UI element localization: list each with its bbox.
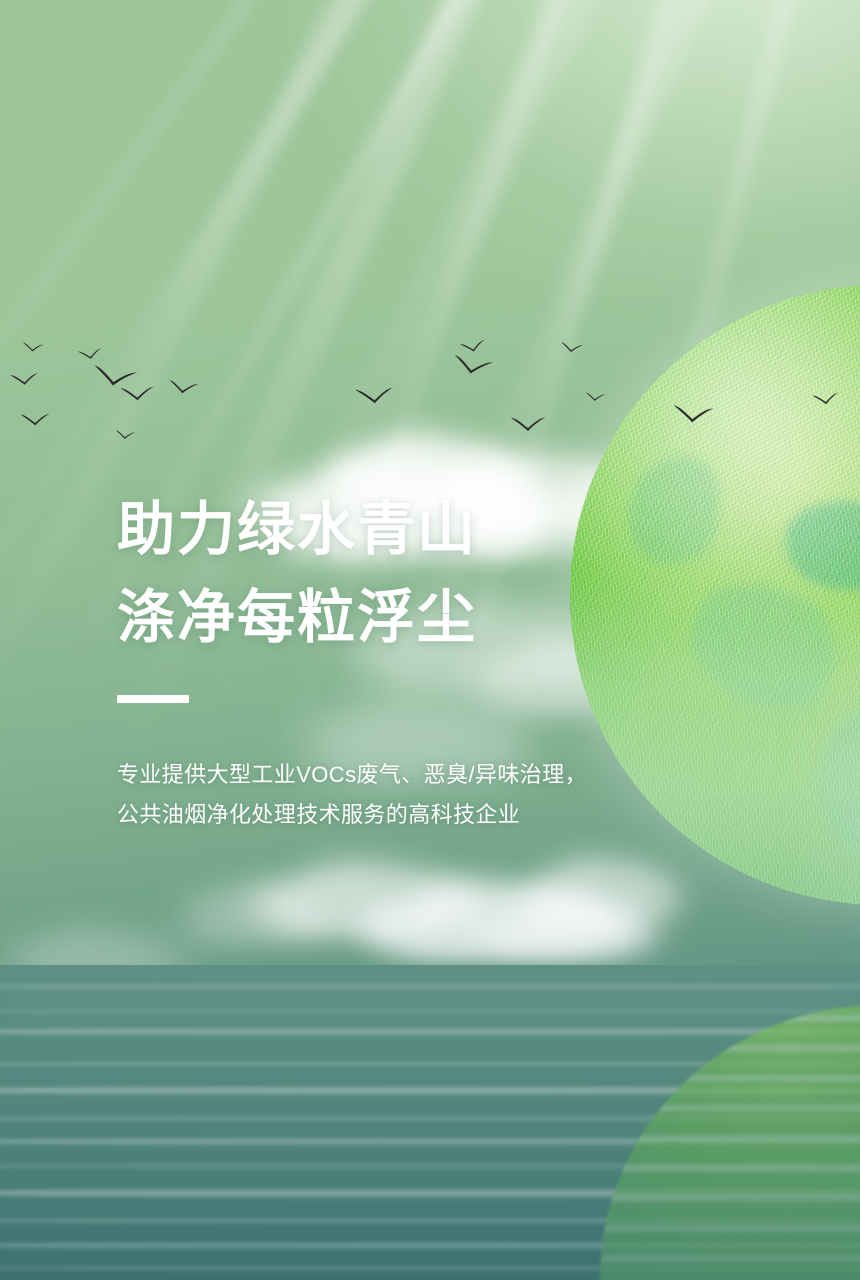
- bird-icon: [20, 411, 52, 428]
- water-ripple-line: [0, 983, 860, 990]
- subtitle-line-2: 公共油烟净化处理技术服务的高科技企业: [117, 795, 677, 835]
- bird-icon: [559, 341, 584, 355]
- bird-icon: [9, 370, 40, 388]
- bird-icon: [510, 414, 548, 434]
- cloud-puff: [493, 924, 599, 952]
- reflection-water-veil: [600, 1005, 860, 1280]
- cloud-puff: [198, 910, 282, 934]
- cloud: [180, 890, 330, 934]
- bird-icon: [585, 391, 607, 403]
- cloud-puff: [588, 918, 664, 951]
- bird-icon: [119, 384, 156, 404]
- divider-rule: [117, 695, 189, 703]
- hero-text-block: 助力绿水青山 涤净每粒浮尘 专业提供大型工业VOCs废气、恶臭/异味治理， 公共…: [117, 486, 677, 835]
- bird-icon: [77, 346, 104, 363]
- globe-reflection: [600, 1005, 860, 1280]
- headline-line-1: 助力绿水青山: [117, 486, 677, 574]
- bird-icon: [671, 403, 716, 427]
- bird-icon: [115, 429, 137, 441]
- bird-icon: [354, 384, 396, 408]
- eco-hero-poster: 助力绿水青山 涤净每粒浮尘 专业提供大型工业VOCs废气、恶臭/异味治理， 公共…: [0, 0, 860, 1280]
- headline-line-2: 涤净每粒浮尘: [117, 574, 677, 662]
- flying-birds-flock: [0, 330, 470, 470]
- bird-icon: [167, 378, 200, 397]
- subtitle-line-1: 专业提供大型工业VOCs废气、恶臭/异味治理，: [117, 755, 677, 795]
- bird-icon: [22, 341, 45, 354]
- cloud-puff: [273, 905, 333, 933]
